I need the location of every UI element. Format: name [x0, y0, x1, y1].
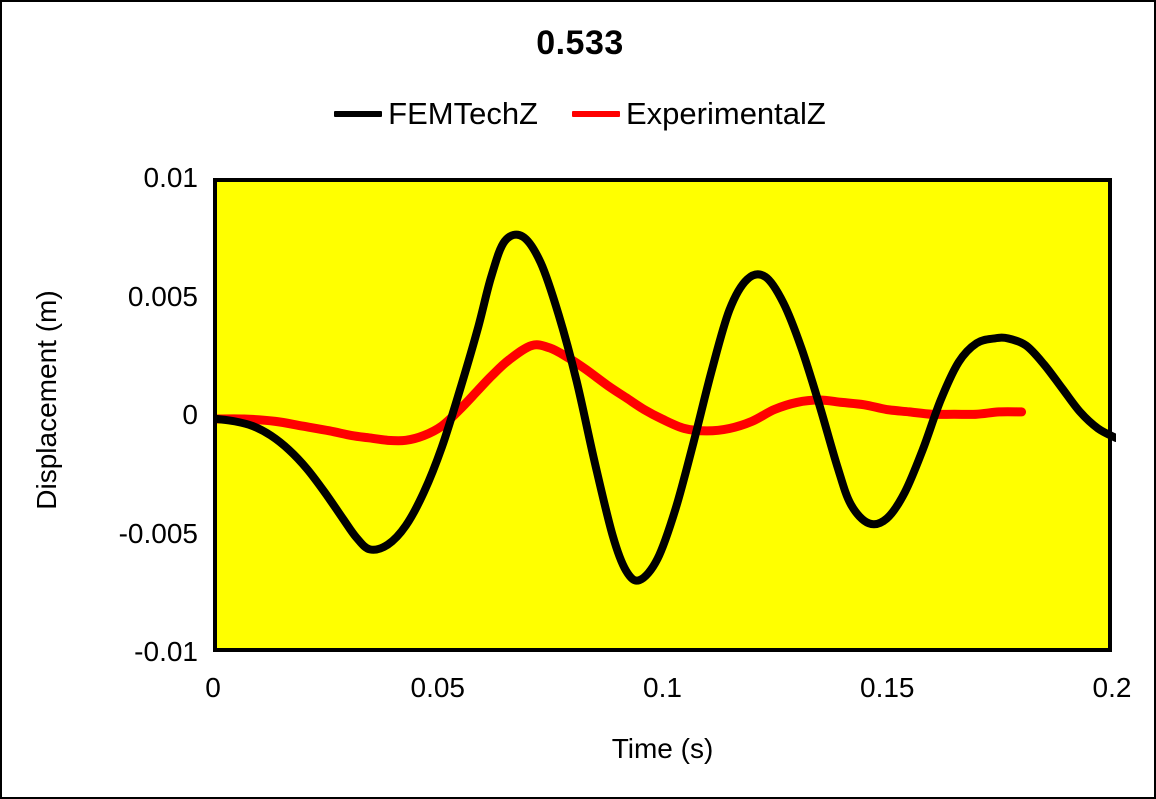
series-canvas [217, 182, 1116, 656]
series-line-experimentalz [217, 345, 1022, 441]
legend-item-experimentalz[interactable]: ExperimentalZ [572, 98, 826, 129]
x-tick-label: 0 [153, 674, 273, 702]
legend-label-femtechz: FEMTechZ [388, 98, 538, 129]
legend-label-experimentalz: ExperimentalZ [626, 98, 826, 129]
x-tick-label: 0.2 [1052, 674, 1156, 702]
legend-swatch-femtechz [334, 111, 382, 117]
legend-item-femtechz[interactable]: FEMTechZ [334, 98, 538, 129]
x-tick-label: 0.1 [603, 674, 723, 702]
plot-area [213, 178, 1112, 652]
x-axis-title: Time (s) [213, 733, 1112, 765]
chart-figure: 0.533 FEMTechZ ExperimentalZ 0.010.0050-… [0, 0, 1156, 799]
legend-swatch-experimentalz [572, 111, 620, 117]
y-axis-title: Displacement (m) [31, 270, 63, 530]
series-line-femtechz [217, 235, 1116, 581]
x-tick-label: 0.05 [378, 674, 498, 702]
y-tick-label: -0.01 [8, 638, 198, 666]
y-tick-label: 0.01 [8, 164, 198, 192]
x-tick-label: 0.15 [827, 674, 947, 702]
